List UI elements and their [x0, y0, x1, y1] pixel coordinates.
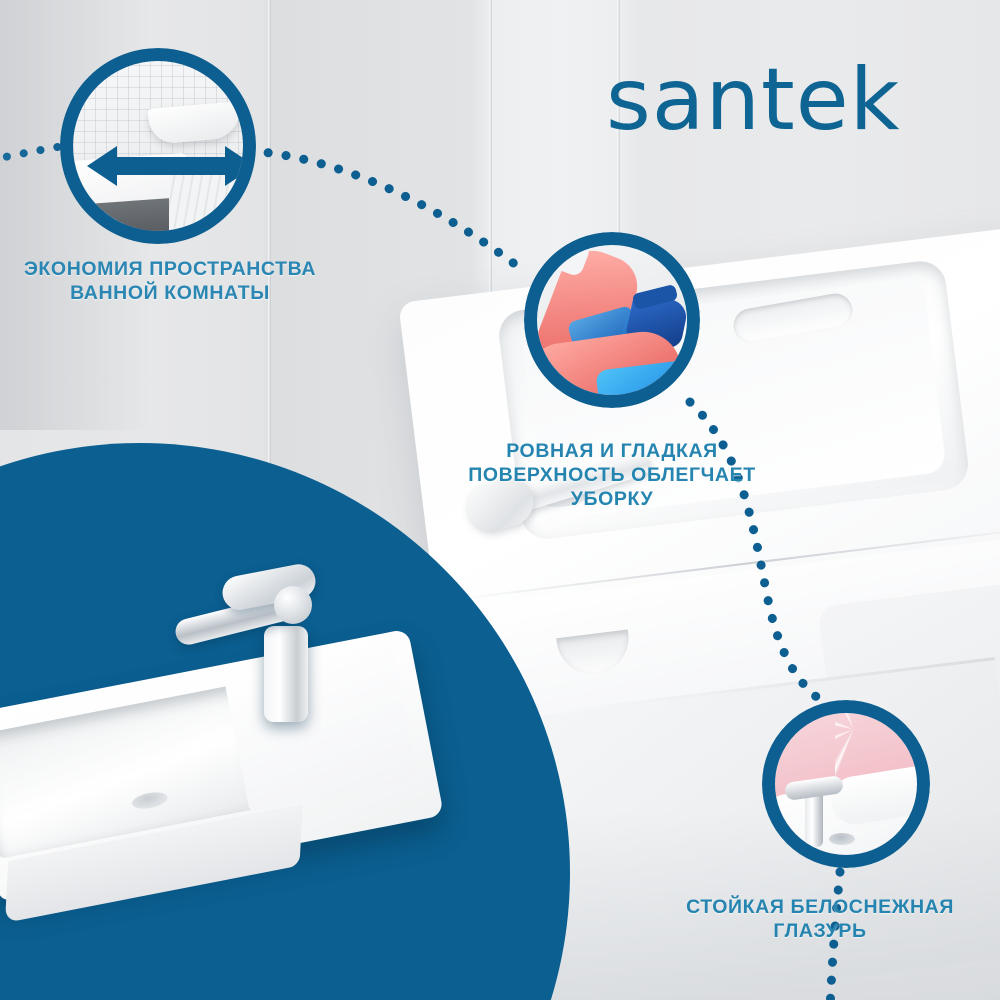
- feature-badge-easy-cleaning[interactable]: [524, 232, 700, 408]
- infographic-canvas: ЭКОНОМИЯ ПРОСТРАНСТВА ВАННОЙ КОМНАТЫ РОВ…: [0, 0, 1000, 1000]
- feature-badge-space-saving[interactable]: [60, 48, 256, 244]
- caption-easy-cleaning: РОВНАЯ И ГЛАДКАЯ ПОВЕРХНОСТЬ ОБЛЕГЧАЕТ У…: [438, 440, 786, 511]
- brand-logo: santek: [606, 50, 900, 150]
- wall-panel-seam: [268, 0, 271, 470]
- caption-space-saving: ЭКОНОМИЯ ПРОСТРАНСТВА ВАННОЙ КОМНАТЫ: [20, 258, 320, 306]
- badge-ring: [524, 232, 700, 408]
- badge-ring: [60, 48, 256, 244]
- feature-badge-durable-glaze[interactable]: [762, 700, 930, 868]
- badge-ring: [762, 700, 930, 868]
- caption-durable-glaze: СТОЙКАЯ БЕЛОСНЕЖНАЯ ГЛАЗУРЬ: [640, 896, 1000, 944]
